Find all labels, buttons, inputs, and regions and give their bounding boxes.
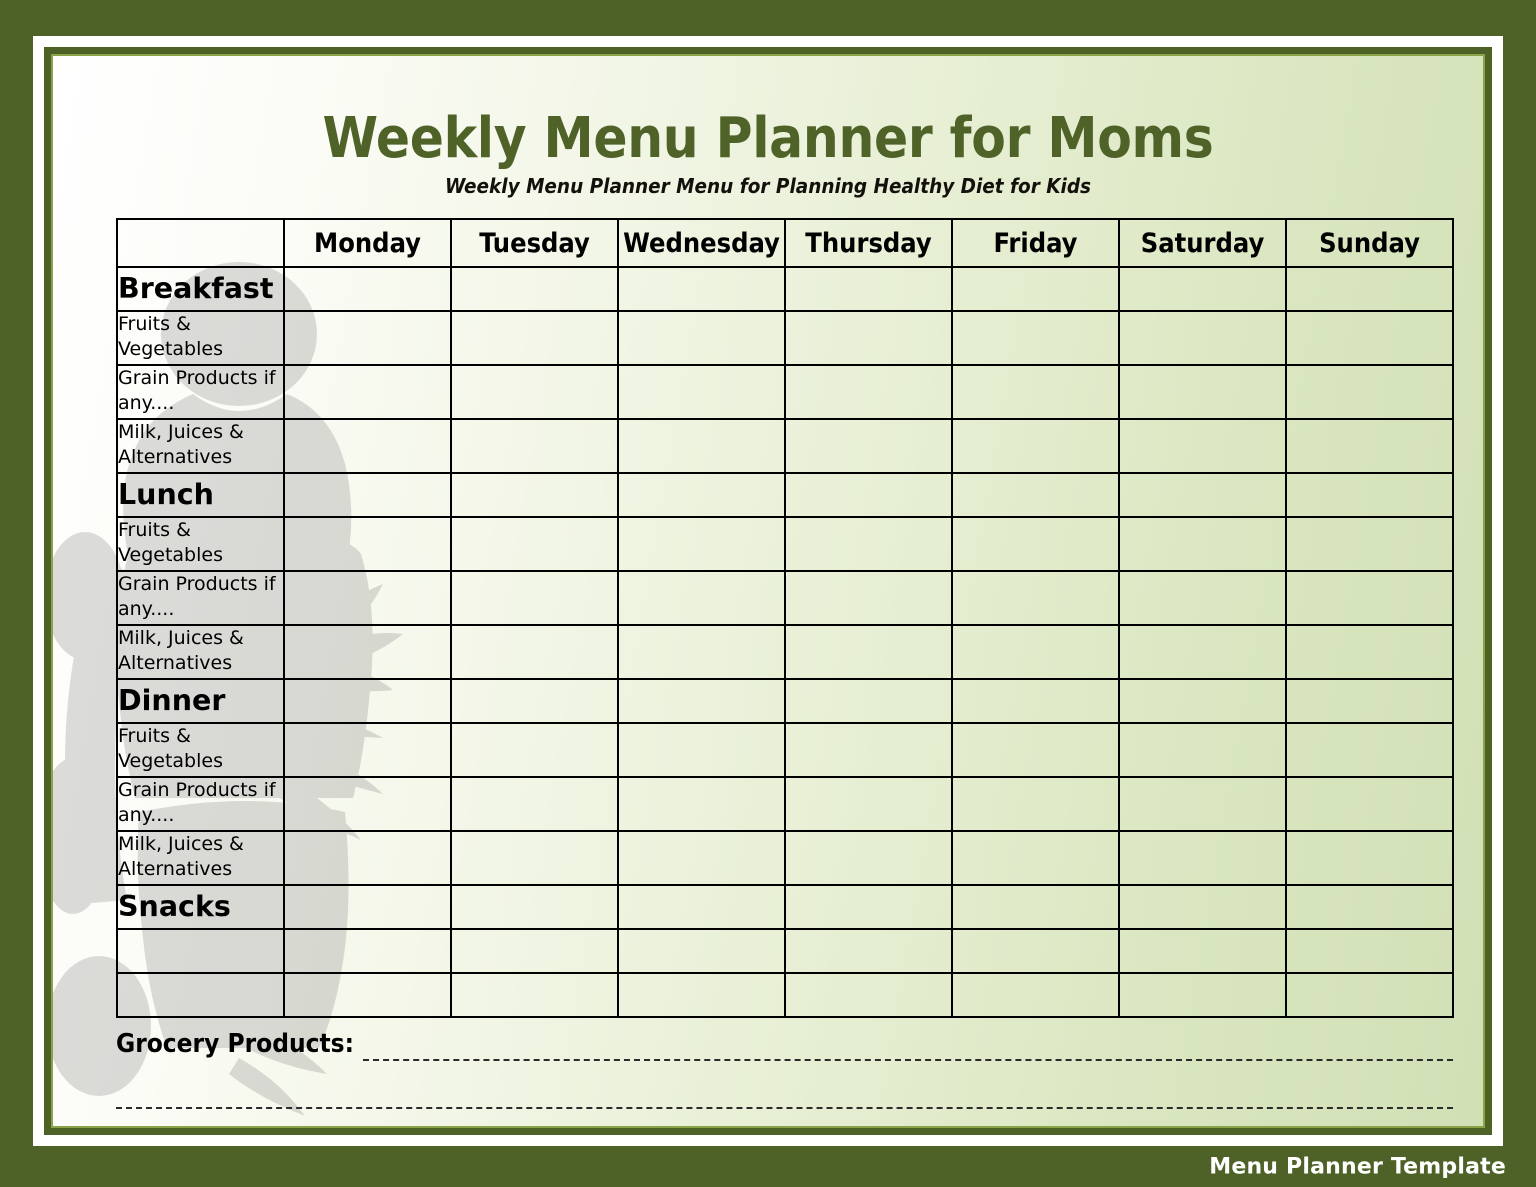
grocery-products-label: Grocery Products: [116, 1031, 354, 1061]
menu-entry-cell[interactable] [284, 679, 451, 723]
menu-entry-cell[interactable] [952, 831, 1119, 885]
day-header-sunday: Sunday [1286, 219, 1453, 267]
menu-entry-cell[interactable] [952, 267, 1119, 311]
menu-entry-cell[interactable] [618, 267, 785, 311]
menu-entry-cell[interactable] [785, 831, 952, 885]
footer-band: Menu Planner Template [0, 1146, 1536, 1187]
menu-entry-cell[interactable] [1286, 929, 1453, 973]
menu-entry-cell[interactable] [451, 831, 618, 885]
menu-entry-cell[interactable] [1286, 419, 1453, 473]
menu-entry-cell[interactable] [1286, 517, 1453, 571]
table-row: Lunch [117, 473, 1453, 517]
menu-entry-cell[interactable] [785, 571, 952, 625]
blank-row-label [117, 929, 284, 973]
menu-entry-cell[interactable] [284, 625, 451, 679]
menu-entry-cell[interactable] [1286, 571, 1453, 625]
menu-entry-cell[interactable] [1286, 777, 1453, 831]
menu-entry-cell[interactable] [1286, 723, 1453, 777]
menu-entry-cell[interactable] [785, 973, 952, 1017]
planner-card: Weekly Menu Planner for Moms Weekly Menu… [53, 56, 1483, 1126]
page-background: Weekly Menu Planner for Moms Weekly Menu… [0, 0, 1536, 1187]
menu-entry-cell[interactable] [284, 517, 451, 571]
menu-entry-cell[interactable] [451, 625, 618, 679]
page-subtitle: Weekly Menu Planner Menu for Planning He… [53, 174, 1483, 198]
menu-entry-cell[interactable] [952, 473, 1119, 517]
menu-entry-cell[interactable] [1286, 267, 1453, 311]
meal-section-label: Snacks [117, 885, 284, 929]
meal-section-label: Breakfast [117, 267, 284, 311]
menu-entry-cell[interactable] [618, 473, 785, 517]
table-row: Milk, Juices & Alternatives [117, 831, 1453, 885]
menu-entry-cell[interactable] [1286, 311, 1453, 365]
table-corner-cell [117, 219, 284, 267]
menu-entry-cell[interactable] [952, 723, 1119, 777]
inner-green-rule: Weekly Menu Planner for Moms Weekly Menu… [51, 54, 1485, 1128]
menu-entry-cell[interactable] [1119, 885, 1286, 929]
olive-frame: Weekly Menu Planner for Moms Weekly Menu… [44, 47, 1492, 1135]
food-group-label: Milk, Juices & Alternatives [117, 419, 284, 473]
menu-entry-cell[interactable] [284, 831, 451, 885]
menu-entry-cell[interactable] [451, 679, 618, 723]
menu-entry-cell[interactable] [1119, 267, 1286, 311]
menu-entry-cell[interactable] [1286, 885, 1453, 929]
menu-entry-cell[interactable] [451, 885, 618, 929]
menu-entry-cell[interactable] [785, 777, 952, 831]
menu-entry-cell[interactable] [785, 473, 952, 517]
menu-entry-cell[interactable] [618, 517, 785, 571]
menu-entry-cell[interactable] [1286, 973, 1453, 1017]
grocery-write-line-1[interactable] [363, 1059, 1453, 1061]
menu-entry-cell[interactable] [451, 973, 618, 1017]
day-header-tuesday: Tuesday [451, 219, 618, 267]
menu-entry-cell[interactable] [1119, 473, 1286, 517]
menu-entry-cell[interactable] [952, 929, 1119, 973]
grocery-line-2 [116, 1107, 1453, 1109]
menu-entry-cell[interactable] [952, 365, 1119, 419]
food-group-label: Fruits & Vegetables [117, 311, 284, 365]
page-title: Weekly Menu Planner for Moms [53, 106, 1483, 171]
food-group-label: Milk, Juices & Alternatives [117, 625, 284, 679]
day-header-saturday: Saturday [1119, 219, 1286, 267]
menu-entry-cell[interactable] [1119, 973, 1286, 1017]
white-mat: Weekly Menu Planner for Moms Weekly Menu… [33, 36, 1503, 1146]
menu-entry-cell[interactable] [618, 973, 785, 1017]
menu-entry-cell[interactable] [618, 885, 785, 929]
table-row: Milk, Juices & Alternatives [117, 419, 1453, 473]
menu-entry-cell[interactable] [618, 723, 785, 777]
menu-entry-cell[interactable] [1286, 679, 1453, 723]
table-row: Dinner [117, 679, 1453, 723]
menu-entry-cell[interactable] [1119, 929, 1286, 973]
menu-entry-cell[interactable] [618, 679, 785, 723]
menu-entry-cell[interactable] [1119, 625, 1286, 679]
food-group-label: Milk, Juices & Alternatives [117, 831, 284, 885]
food-group-label: Fruits & Vegetables [117, 723, 284, 777]
weekly-menu-table: Monday Tuesday Wednesday Thursday Friday… [116, 218, 1454, 1018]
menu-entry-cell[interactable] [451, 517, 618, 571]
table-row: Milk, Juices & Alternatives [117, 625, 1453, 679]
menu-entry-cell[interactable] [1119, 723, 1286, 777]
menu-entry-cell[interactable] [284, 365, 451, 419]
grocery-products-section: Grocery Products: [116, 1031, 1453, 1126]
menu-entry-cell[interactable] [1119, 365, 1286, 419]
table-row: Grain Products if any.... [117, 571, 1453, 625]
menu-entry-cell[interactable] [451, 311, 618, 365]
menu-entry-cell[interactable] [952, 679, 1119, 723]
grocery-first-line: Grocery Products: [116, 1031, 1453, 1061]
menu-entry-cell[interactable] [618, 571, 785, 625]
menu-entry-cell[interactable] [952, 571, 1119, 625]
menu-entry-cell[interactable] [1119, 571, 1286, 625]
menu-entry-cell[interactable] [451, 473, 618, 517]
menu-entry-cell[interactable] [284, 473, 451, 517]
table-row: Grain Products if any.... [117, 365, 1453, 419]
menu-entry-cell[interactable] [785, 267, 952, 311]
menu-entry-cell[interactable] [952, 973, 1119, 1017]
menu-entry-cell[interactable] [618, 929, 785, 973]
menu-entry-cell[interactable] [284, 929, 451, 973]
menu-entry-cell[interactable] [1286, 831, 1453, 885]
menu-entry-cell[interactable] [785, 885, 952, 929]
menu-entry-cell[interactable] [451, 365, 618, 419]
weekly-menu-table-body: BreakfastFruits & VegetablesGrain Produc… [117, 267, 1453, 1017]
menu-entry-cell[interactable] [1119, 419, 1286, 473]
menu-entry-cell[interactable] [451, 571, 618, 625]
menu-entry-cell[interactable] [952, 625, 1119, 679]
footer-template-label: Menu Planner Template [1209, 1154, 1506, 1179]
table-row [117, 973, 1453, 1017]
day-header-monday: Monday [284, 219, 451, 267]
menu-entry-cell[interactable] [785, 517, 952, 571]
menu-entry-cell[interactable] [451, 723, 618, 777]
menu-entry-cell[interactable] [618, 419, 785, 473]
table-row: Grain Products if any.... [117, 777, 1453, 831]
menu-entry-cell[interactable] [1286, 473, 1453, 517]
menu-entry-cell[interactable] [1286, 365, 1453, 419]
table-row: Breakfast [117, 267, 1453, 311]
menu-entry-cell[interactable] [451, 419, 618, 473]
menu-entry-cell[interactable] [1119, 311, 1286, 365]
menu-entry-cell[interactable] [284, 973, 451, 1017]
table-row: Fruits & Vegetables [117, 311, 1453, 365]
meal-section-label: Dinner [117, 679, 284, 723]
menu-entry-cell[interactable] [1119, 517, 1286, 571]
menu-entry-cell[interactable] [451, 777, 618, 831]
day-header-friday: Friday [952, 219, 1119, 267]
day-header-wednesday: Wednesday [618, 219, 785, 267]
table-row: Fruits & Vegetables [117, 723, 1453, 777]
table-row: Fruits & Vegetables [117, 517, 1453, 571]
food-group-label: Grain Products if any.... [117, 571, 284, 625]
menu-entry-cell[interactable] [952, 517, 1119, 571]
menu-entry-cell[interactable] [785, 679, 952, 723]
food-group-label: Grain Products if any.... [117, 365, 284, 419]
day-header-thursday: Thursday [785, 219, 952, 267]
menu-entry-cell[interactable] [785, 419, 952, 473]
menu-entry-cell[interactable] [618, 311, 785, 365]
menu-entry-cell[interactable] [451, 929, 618, 973]
menu-entry-cell[interactable] [785, 723, 952, 777]
menu-entry-cell[interactable] [284, 311, 451, 365]
blank-row-label [117, 973, 284, 1017]
menu-entry-cell[interactable] [284, 419, 451, 473]
food-group-label: Grain Products if any.... [117, 777, 284, 831]
menu-entry-cell[interactable] [618, 365, 785, 419]
menu-entry-cell[interactable] [785, 929, 952, 973]
menu-entry-cell[interactable] [785, 625, 952, 679]
menu-entry-cell[interactable] [451, 267, 618, 311]
table-row [117, 929, 1453, 973]
menu-entry-cell[interactable] [284, 777, 451, 831]
menu-entry-cell[interactable] [952, 419, 1119, 473]
menu-entry-cell[interactable] [1119, 831, 1286, 885]
menu-entry-cell[interactable] [284, 885, 451, 929]
menu-entry-cell[interactable] [785, 365, 952, 419]
menu-entry-cell[interactable] [1286, 625, 1453, 679]
grocery-write-line-2[interactable] [116, 1107, 1453, 1109]
meal-section-label: Lunch [117, 473, 284, 517]
menu-entry-cell[interactable] [952, 885, 1119, 929]
menu-entry-cell[interactable] [1119, 777, 1286, 831]
menu-entry-cell[interactable] [618, 831, 785, 885]
menu-entry-cell[interactable] [952, 311, 1119, 365]
menu-entry-cell[interactable] [284, 267, 451, 311]
table-row: Snacks [117, 885, 1453, 929]
menu-entry-cell[interactable] [284, 571, 451, 625]
menu-entry-cell[interactable] [618, 777, 785, 831]
menu-entry-cell[interactable] [284, 723, 451, 777]
menu-entry-cell[interactable] [952, 777, 1119, 831]
table-header-row: Monday Tuesday Wednesday Thursday Friday… [117, 219, 1453, 267]
menu-entry-cell[interactable] [618, 625, 785, 679]
menu-entry-cell[interactable] [1119, 679, 1286, 723]
food-group-label: Fruits & Vegetables [117, 517, 284, 571]
menu-entry-cell[interactable] [785, 311, 952, 365]
